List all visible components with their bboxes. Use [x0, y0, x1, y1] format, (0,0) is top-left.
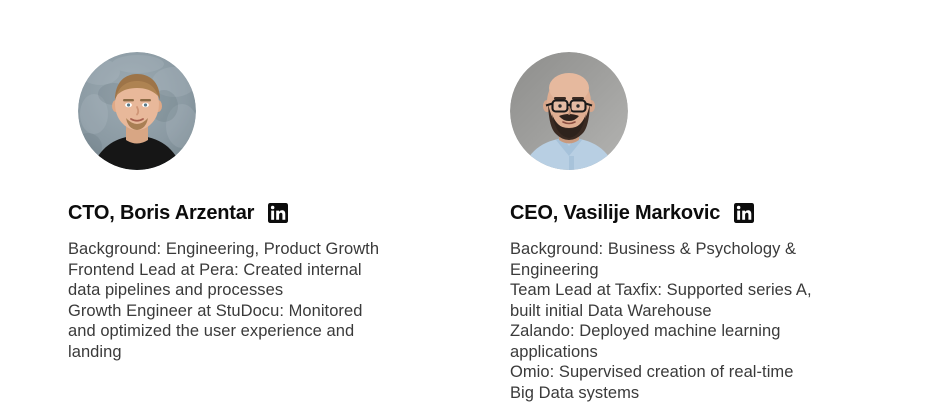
bio-line: Background: Business & Psychology &: [510, 239, 865, 260]
bio-line: built initial Data Warehouse: [510, 301, 865, 322]
profile-name-row: CTO, Boris Arzentar: [68, 200, 468, 226]
profile-name: CEO, Vasilije Markovic: [510, 202, 720, 225]
bio-line: Frontend Lead at Pera: Created internal: [68, 260, 413, 281]
bio-line: Growth Engineer at StuDocu: Monitored: [68, 301, 413, 322]
bio-line: Zalando: Deployed machine learning: [510, 321, 865, 342]
linkedin-icon[interactable]: [268, 203, 288, 223]
profile-name: CTO, Boris Arzentar: [68, 202, 254, 225]
avatar: [510, 52, 628, 170]
avatar: [78, 52, 196, 170]
avatar-photo: [78, 52, 196, 170]
profile-bio: Background: Engineering, Product Growth …: [68, 239, 468, 362]
linkedin-icon[interactable]: [734, 203, 754, 223]
profile-card-cto: CTO, Boris Arzentar Background: Engineer…: [68, 52, 468, 362]
bio-line: applications: [510, 342, 865, 363]
bio-line: Big Data systems: [510, 383, 865, 404]
profile-bio: Background: Business & Psychology & Engi…: [510, 239, 910, 403]
profile-name-row: CEO, Vasilije Markovic: [510, 200, 910, 226]
bio-line: Omio: Supervised creation of real-time: [510, 362, 865, 383]
bio-line: landing: [68, 342, 413, 363]
bio-line: Background: Engineering, Product Growth: [68, 239, 413, 260]
bio-line: and optimized the user experience and: [68, 321, 413, 342]
bio-line: Team Lead at Taxfix: Supported series A,: [510, 280, 865, 301]
bio-line: Engineering: [510, 260, 865, 281]
avatar-photo: [510, 52, 628, 170]
team-profiles-section: CTO, Boris Arzentar Background: Engineer…: [0, 0, 948, 412]
bio-line: data pipelines and processes: [68, 280, 413, 301]
profile-card-ceo: CEO, Vasilije Markovic Background: Busin…: [510, 52, 910, 403]
